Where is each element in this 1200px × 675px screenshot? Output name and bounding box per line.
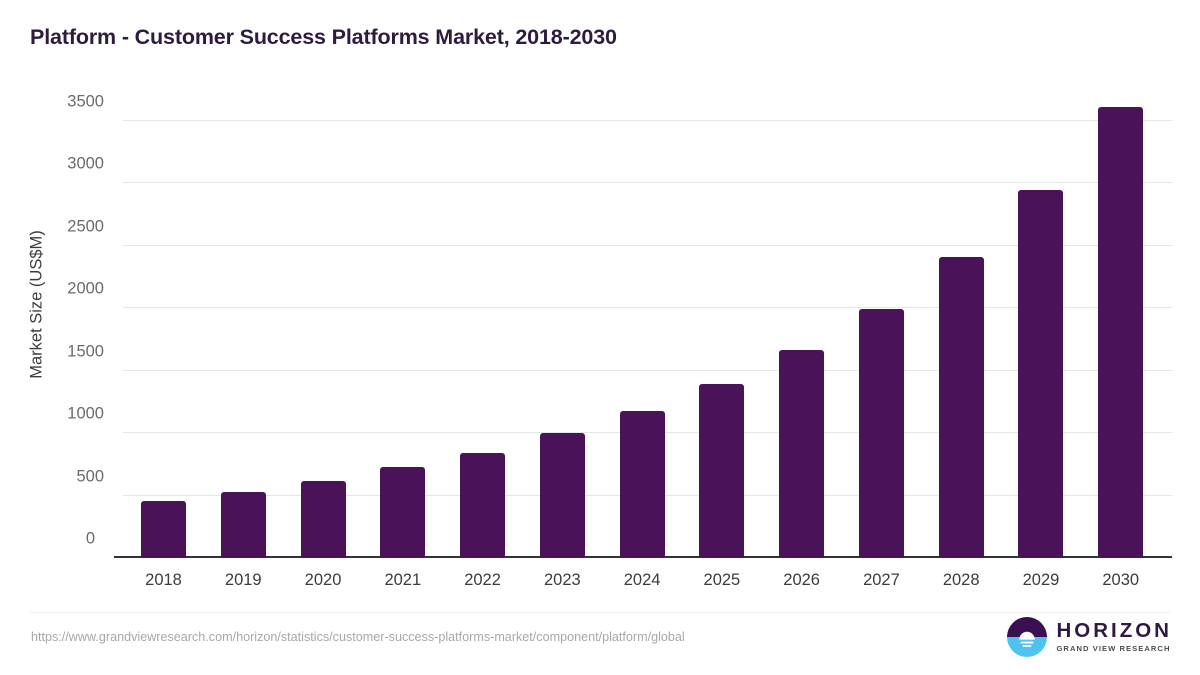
bar-2029[interactable] [1018, 190, 1063, 558]
page-title: Platform - Customer Success Platforms Ma… [30, 25, 617, 50]
bar-slot: 2028 [939, 257, 984, 558]
x-tick-label-2026: 2026 [762, 571, 842, 590]
bar-slot: 2020 [301, 481, 346, 558]
bar-2023[interactable] [540, 433, 585, 558]
chart-page: Platform - Customer Success Platforms Ma… [0, 0, 1200, 675]
logo-word: HORIZON [1056, 621, 1172, 642]
y-tick-label: 0 [86, 530, 95, 549]
x-tick-label-2029: 2029 [1001, 571, 1081, 590]
x-tick-label-2023: 2023 [522, 571, 602, 590]
bar-2021[interactable] [380, 467, 425, 558]
x-tick-label-2028: 2028 [921, 571, 1001, 590]
logo-subtitle: GRAND VIEW RESEARCH [1056, 644, 1172, 654]
bar-2026[interactable] [779, 350, 824, 558]
bar-2022[interactable] [460, 453, 505, 559]
footer-divider [30, 612, 1170, 613]
x-tick-label-2024: 2024 [602, 571, 682, 590]
source-url[interactable]: https://www.grandviewresearch.com/horizo… [31, 630, 685, 644]
bar-slot: 2027 [859, 309, 904, 558]
bar-slot: 2026 [779, 350, 824, 558]
bar-2024[interactable] [620, 411, 665, 558]
bar-slot: 2018 [141, 501, 186, 558]
bar-2028[interactable] [939, 257, 984, 558]
y-axis-title: Market Size (US$M) [28, 125, 47, 485]
bar-2020[interactable] [301, 481, 346, 558]
bar-slot: 2024 [620, 411, 665, 558]
bar-2030[interactable] [1098, 107, 1143, 558]
horizon-logo-icon [1007, 617, 1047, 657]
bar-2018[interactable] [141, 501, 186, 558]
bar-2027[interactable] [859, 309, 904, 558]
y-tick-label: 1500 [67, 342, 104, 361]
y-tick-label: 500 [76, 467, 104, 486]
logo-wordmark: HORIZON GRAND VIEW RESEARCH [1056, 621, 1172, 654]
bar-slot: 2023 [540, 433, 585, 558]
bar-slot: 2022 [460, 453, 505, 559]
y-tick-label: 1000 [67, 405, 104, 424]
bar-slot: 2030 [1098, 107, 1143, 558]
x-tick-label-2021: 2021 [363, 571, 443, 590]
x-tick-label-2019: 2019 [203, 571, 283, 590]
bar-2019[interactable] [221, 492, 266, 558]
y-tick-label: 2500 [67, 217, 104, 236]
y-tick-label: 3000 [67, 155, 104, 174]
bar-slot: 2019 [221, 492, 266, 558]
x-tick-label-2022: 2022 [443, 571, 523, 590]
y-tick-label: 2000 [67, 280, 104, 299]
horizon-logo[interactable]: HORIZON GRAND VIEW RESEARCH [1007, 616, 1172, 658]
bars-group: 2018201920202021202220232024202520262027… [123, 121, 1172, 558]
x-tick-label-2030: 2030 [1081, 571, 1161, 590]
y-tick-label: 3500 [67, 93, 104, 112]
bar-slot: 2021 [380, 467, 425, 558]
x-tick-label-2020: 2020 [283, 571, 363, 590]
x-tick-label-2025: 2025 [682, 571, 762, 590]
bar-slot: 2025 [699, 384, 744, 558]
x-tick-label-2018: 2018 [124, 571, 204, 590]
chart-canvas: Market Size (US$M) 050010001500200025003… [0, 70, 1200, 600]
plot-area: 0500100015002000250030003500 20182019202… [123, 121, 1172, 558]
bar-2025[interactable] [699, 384, 744, 558]
x-tick-label-2027: 2027 [841, 571, 921, 590]
bar-slot: 2029 [1018, 190, 1063, 558]
